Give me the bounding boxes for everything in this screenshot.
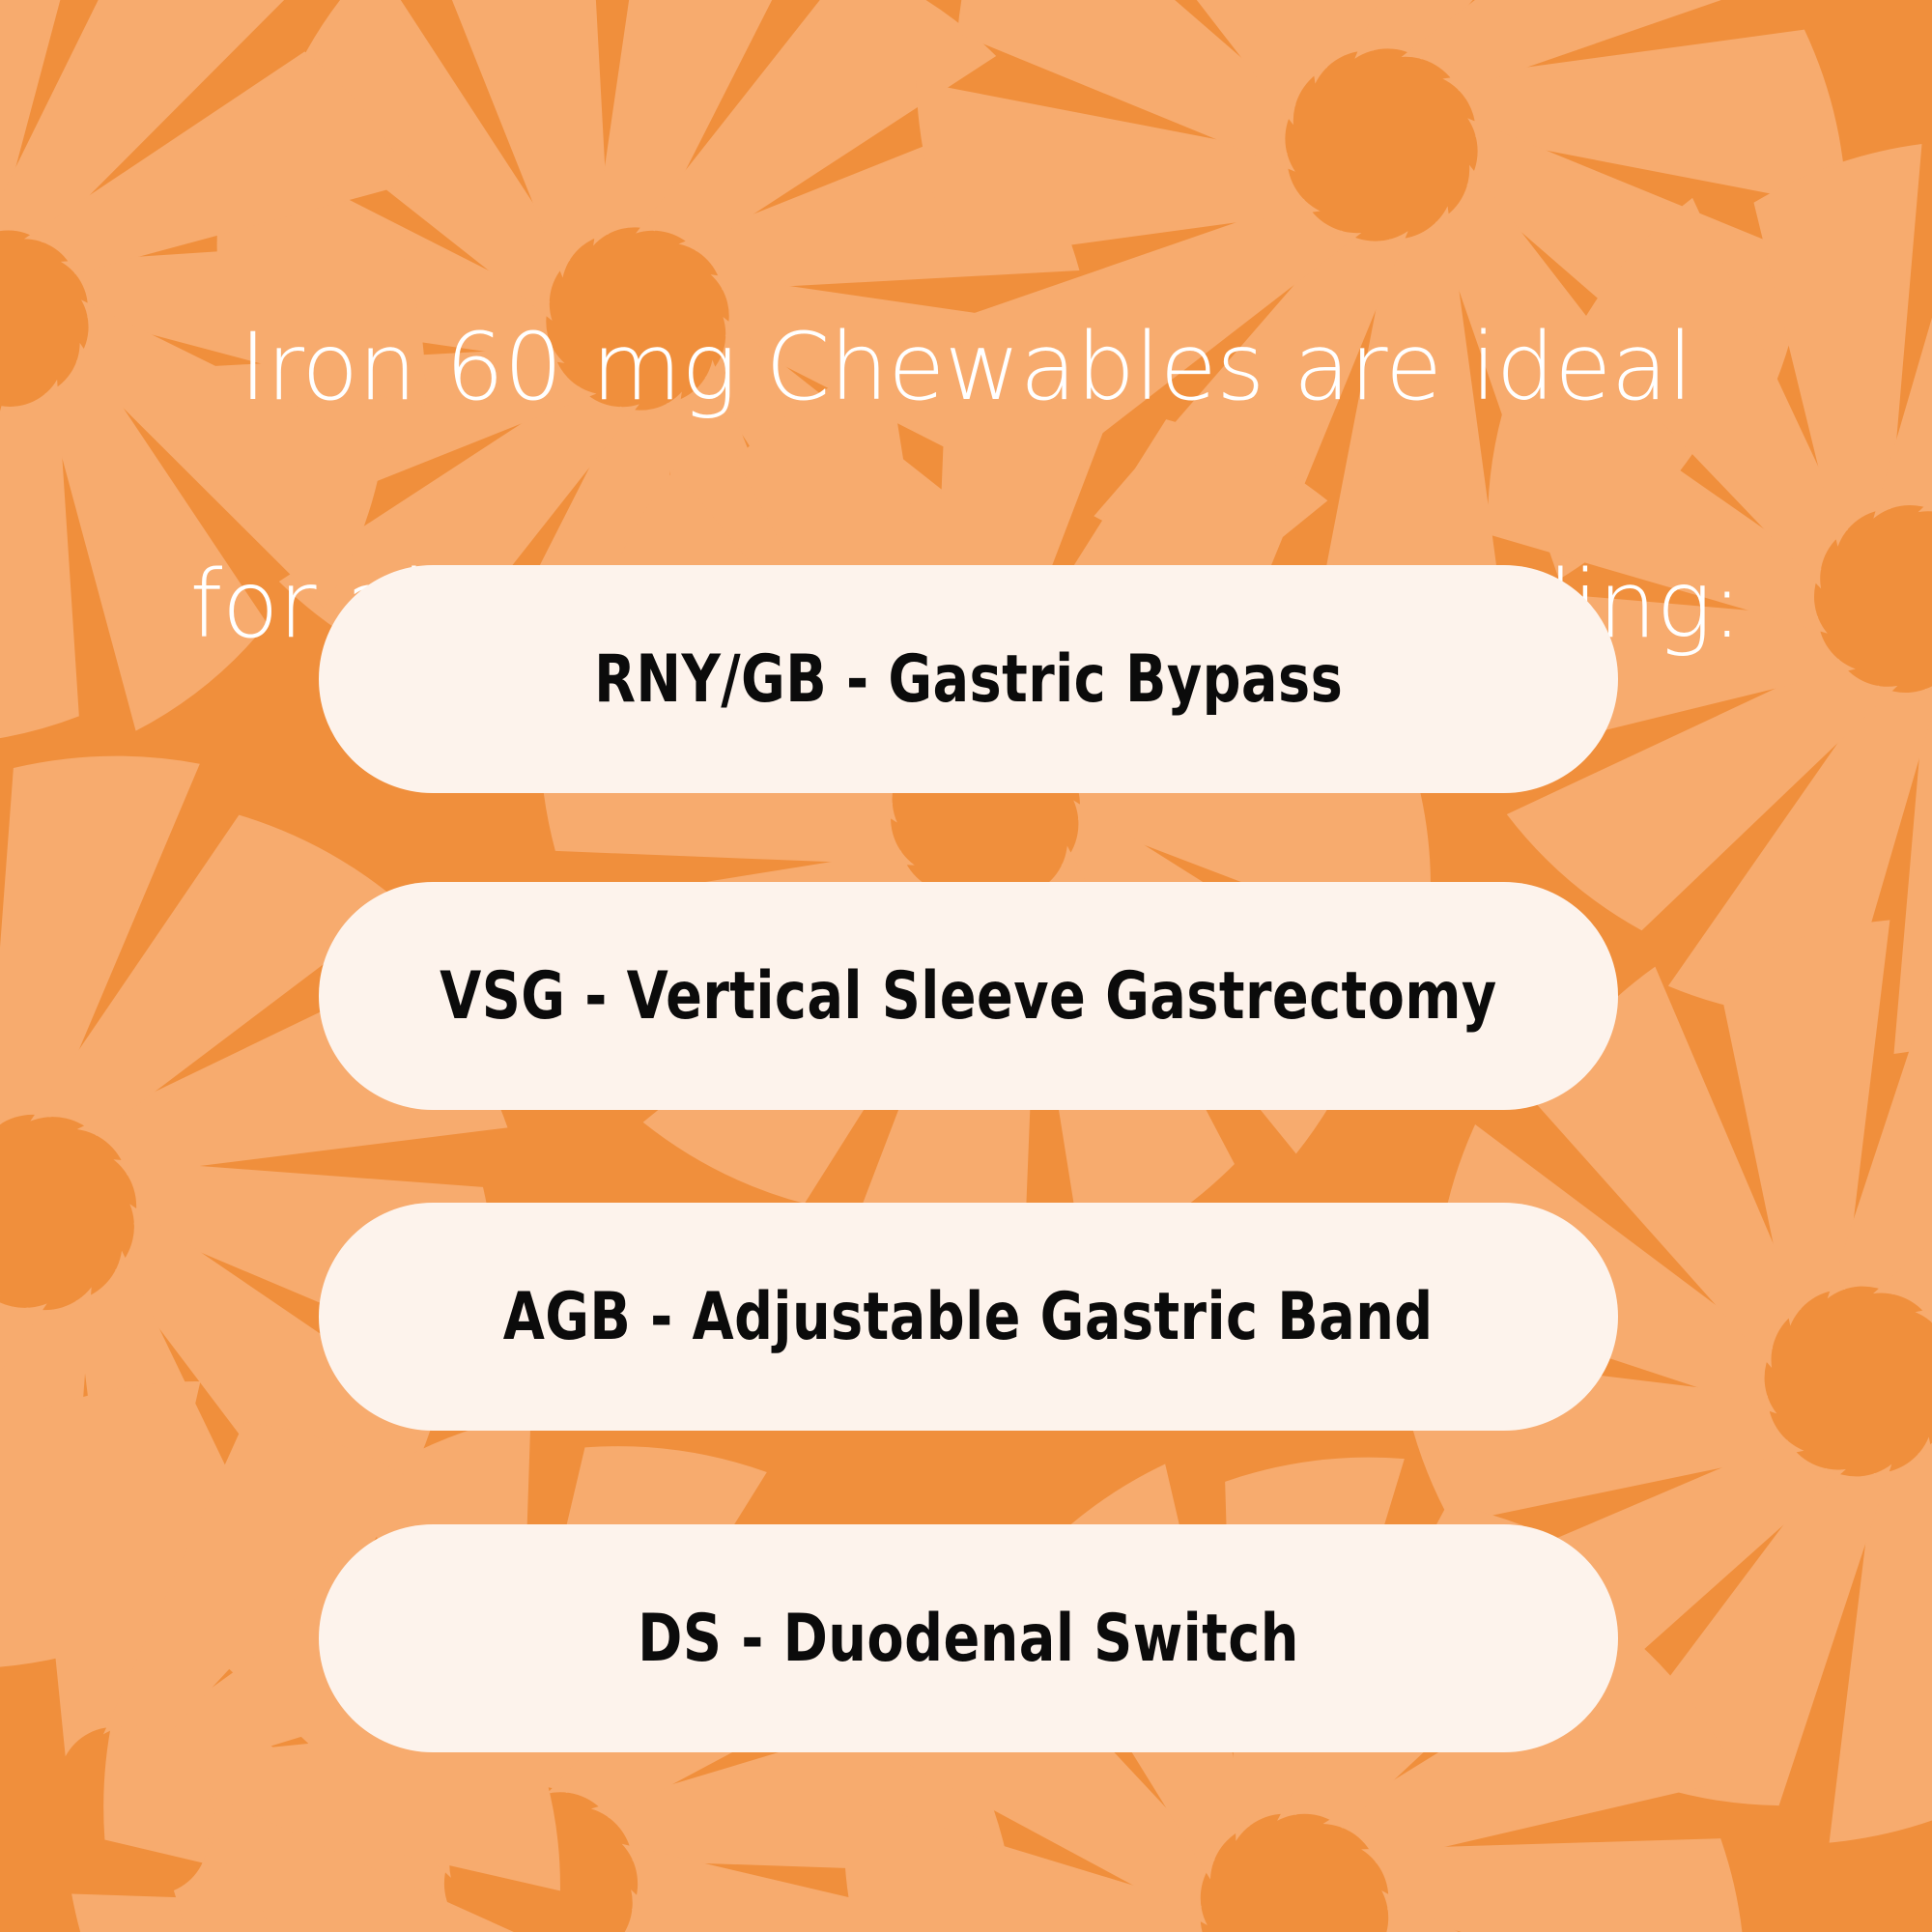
promo-card-canvas: Iron 60 mg Chewables are ideal for all b…	[0, 0, 1932, 1932]
list-item-rny-gb[interactable]: RNY/GB - Gastric Bypass	[319, 565, 1618, 793]
list-item-label: VSG - Vertical Sleeve Gastrectomy	[440, 958, 1496, 1035]
headline-line-1: Iron 60 mg Chewables are ideal	[0, 308, 1932, 427]
list-item-ds[interactable]: DS - Duodenal Switch	[319, 1524, 1618, 1752]
list-item-label: DS - Duodenal Switch	[638, 1601, 1299, 1677]
list-item-agb[interactable]: AGB - Adjustable Gastric Band	[319, 1203, 1618, 1431]
list-item-vsg[interactable]: VSG - Vertical Sleeve Gastrectomy	[319, 882, 1618, 1110]
list-item-label: RNY/GB - Gastric Bypass	[594, 641, 1343, 718]
list-item-label: AGB - Adjustable Gastric Band	[503, 1279, 1434, 1355]
